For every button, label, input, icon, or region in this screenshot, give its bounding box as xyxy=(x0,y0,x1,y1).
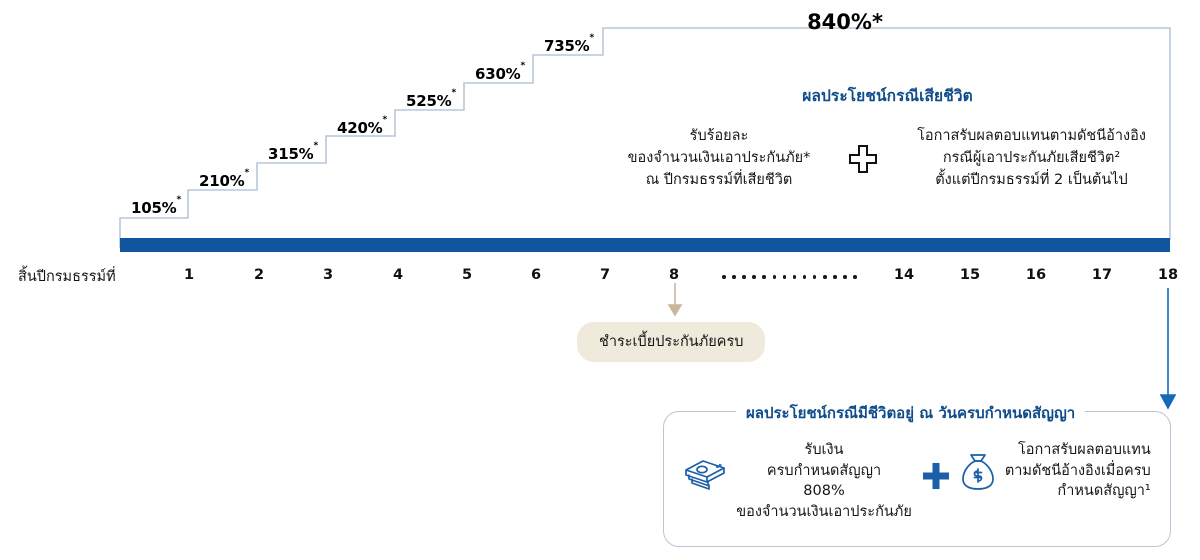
maturity-left-item: รับเงิน ครบกำหนดสัญญา 808% ของจำนวนเงินเ… xyxy=(683,440,912,522)
premium-paid-badge: ชำระเบี้ยประกันภัยครบ xyxy=(577,322,765,362)
axis-tick-14: 14 xyxy=(894,267,914,283)
step-label-4: 420%* xyxy=(337,119,387,137)
death-right-line-3: ตั้งแต่ปีกรมธรรม์ที่ 2 เป็นต้นไป xyxy=(892,170,1171,192)
axis-tick-16: 16 xyxy=(1026,267,1046,283)
axis-tick-7: 7 xyxy=(600,267,610,283)
maturity-right-line-3: กำหนดสัญญา¹ xyxy=(1005,481,1151,502)
death-benefit-right-text: โอกาสรับผลตอบแทนตามดัชนีอ้างอิง กรณีผู้เ… xyxy=(892,126,1171,191)
death-benefit-left-text: รับร้อยละ ของจำนวนเงินเอาประกันภัย* ณ ปี… xyxy=(604,126,834,191)
step-label-6: 630%* xyxy=(475,65,525,83)
maturity-left-line-2: ครบกำหนดสัญญา xyxy=(736,461,912,482)
axis-tick-3: 3 xyxy=(323,267,333,283)
death-right-line-1: โอกาสรับผลตอบแทนตามดัชนีอ้างอิง xyxy=(892,126,1171,148)
axis-tick-5: 5 xyxy=(462,267,472,283)
death-left-line-1: รับร้อยละ xyxy=(604,126,834,148)
total-percent-label: 840%* xyxy=(807,10,883,34)
maturity-benefit-panel: ผลประโยชน์กรณีมีชีวิตอยู่ ณ วันครบกำหนดส… xyxy=(663,411,1171,547)
axis-ellipsis xyxy=(722,272,857,282)
axis-tick-6: 6 xyxy=(531,267,541,283)
maturity-left-text: รับเงิน ครบกำหนดสัญญา 808% ของจำนวนเงินเ… xyxy=(736,440,912,522)
death-benefit-title: ผลประโยชน์กรณีเสียชีวิต xyxy=(604,83,1171,108)
maturity-benefit-title: ผลประโยชน์กรณีมีชีวิตอยู่ ณ วันครบกำหนดส… xyxy=(736,401,1085,425)
step-label-2: 210%* xyxy=(199,172,249,190)
maturity-left-line-1: รับเงิน xyxy=(736,440,912,461)
axis-tick-4: 4 xyxy=(393,267,403,283)
maturity-benefit-body: รับเงิน ครบกำหนดสัญญา 808% ของจำนวนเงินเ… xyxy=(664,440,1170,522)
maturity-left-line-4: ของจำนวนเงินเอาประกันภัย xyxy=(736,502,912,523)
maturity-right-line-1: โอกาสรับผลตอบแทน xyxy=(1005,440,1151,461)
axis-tick-17: 17 xyxy=(1092,267,1112,283)
death-benefit-panel: ผลประโยชน์กรณีเสียชีวิต รับร้อยละ ของจำน… xyxy=(604,43,1171,240)
death-right-line-2: กรณีผู้เอาประกันภัยเสียชีวิต² xyxy=(892,148,1171,170)
plus-solid-icon xyxy=(922,462,950,494)
maturity-left-line-3: 808% xyxy=(736,481,912,502)
maturity-arrow xyxy=(1161,288,1175,408)
step-label-1: 105%* xyxy=(131,199,181,217)
step-label-3: 315%* xyxy=(268,145,318,163)
step-label-7: 735%* xyxy=(544,37,594,55)
plus-outline-icon xyxy=(848,144,878,178)
step-label-5: 525%* xyxy=(406,92,456,110)
axis-tick-8: 8 xyxy=(669,267,679,283)
premium-paid-arrow xyxy=(669,283,681,315)
banknote-stack-icon xyxy=(683,452,727,494)
infographic-canvas: 105%* 210%* 315%* 420%* 525%* 630%* 735%… xyxy=(0,0,1200,560)
axis-tick-18: 18 xyxy=(1158,267,1178,283)
money-bag-icon xyxy=(960,452,996,496)
death-left-line-2: ของจำนวนเงินเอาประกันภัย* xyxy=(604,148,834,170)
death-left-line-3: ณ ปีกรมธรรม์ที่เสียชีวิต xyxy=(604,170,834,192)
axis-tick-15: 15 xyxy=(960,267,980,283)
maturity-right-line-2: ตามดัชนีอ้างอิงเมื่อครบ xyxy=(1005,461,1151,482)
maturity-right-text: โอกาสรับผลตอบแทน ตามดัชนีอ้างอิงเมื่อครบ… xyxy=(1005,440,1151,502)
axis-caption: สิ้นปีกรมธรรม์ที่ xyxy=(18,265,116,288)
axis-tick-2: 2 xyxy=(254,267,264,283)
axis-tick-1: 1 xyxy=(184,267,194,283)
death-benefit-columns: รับร้อยละ ของจำนวนเงินเอาประกันภัย* ณ ปี… xyxy=(604,126,1171,191)
maturity-right-item: โอกาสรับผลตอบแทน ตามดัชนีอ้างอิงเมื่อครบ… xyxy=(960,440,1151,502)
timeline-bar xyxy=(120,238,1170,252)
